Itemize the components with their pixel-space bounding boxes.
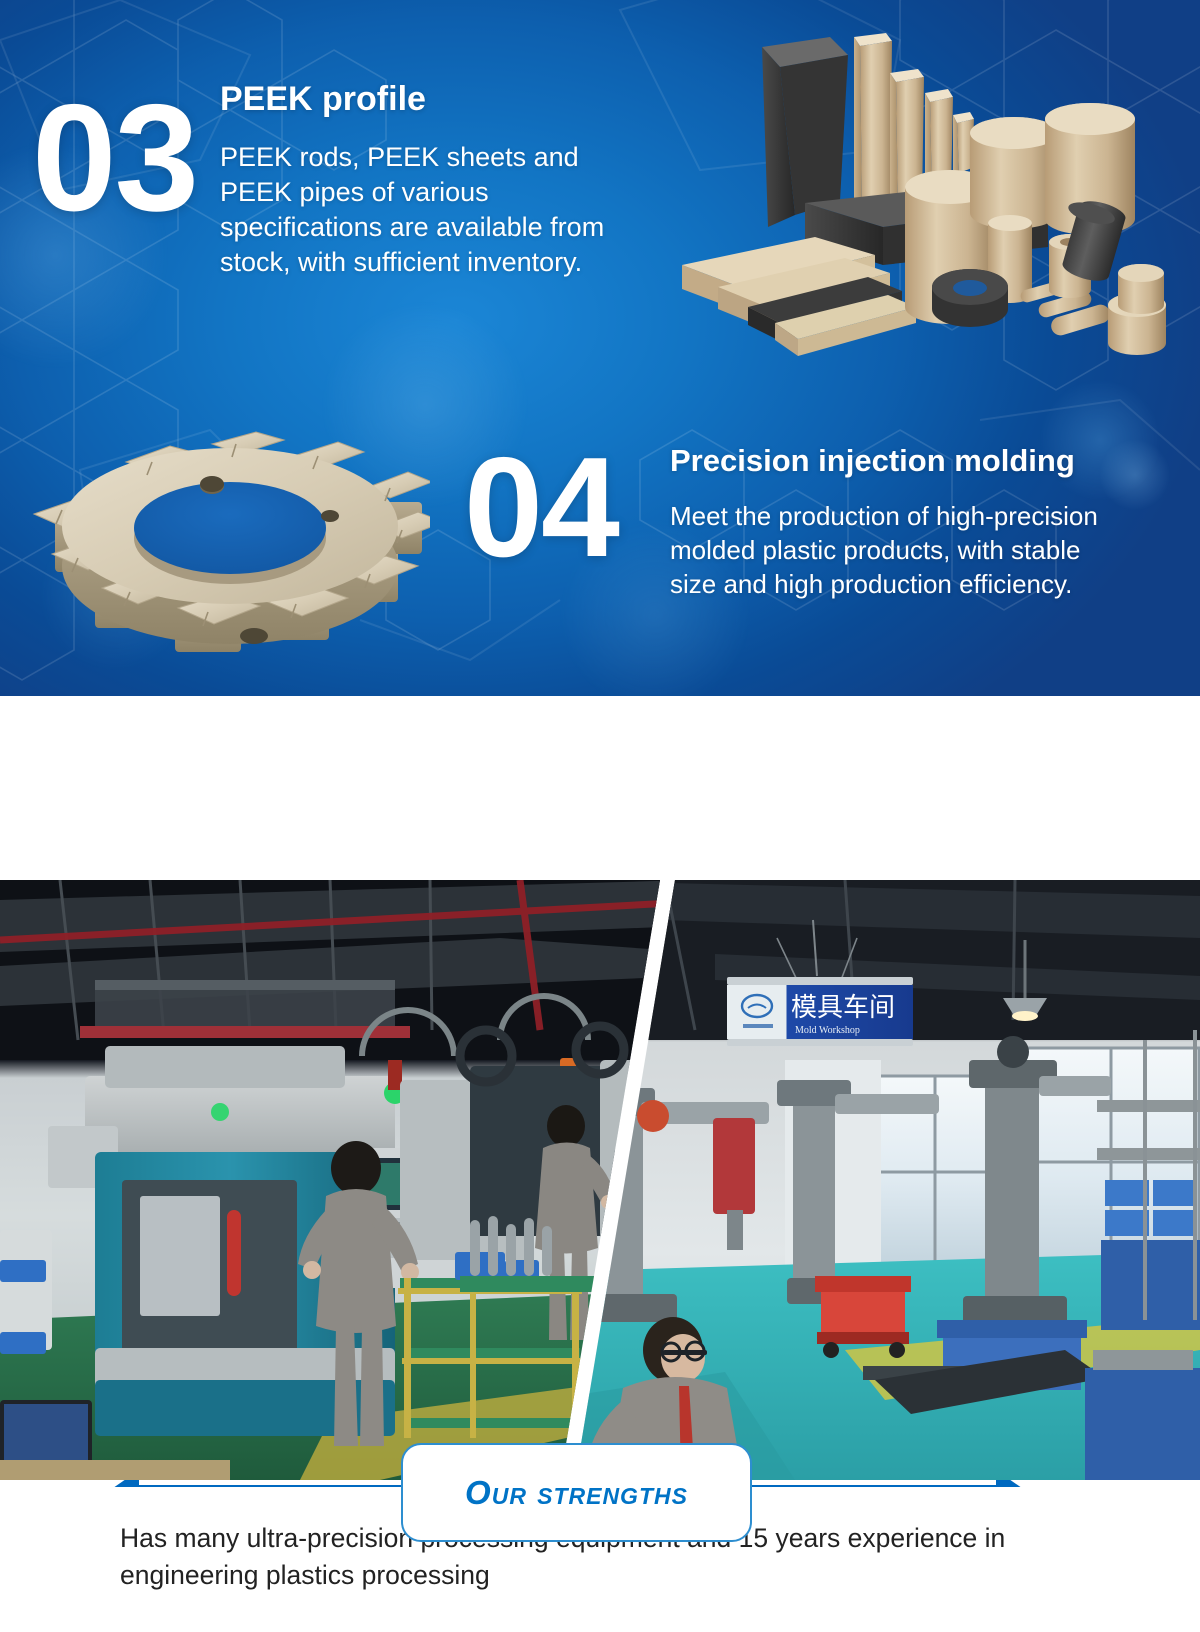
block-body-03: PEEK rods, PEEK sheets and PEEK pipes of…: [220, 140, 652, 280]
peek-gear-ring-image: [30, 392, 430, 674]
svg-text:模具车间: 模具车间: [791, 993, 895, 1023]
strengths-banner: Our strengths: [0, 696, 1200, 880]
black-peek-block: [762, 37, 848, 227]
peek-profile-products-image: [640, 15, 1192, 360]
svg-text:Mold Workshop: Mold Workshop: [795, 1025, 860, 1036]
strengths-label-box: Our strengths: [401, 1443, 752, 1542]
block-body-04: Meet the production of high-precision mo…: [670, 500, 1100, 601]
factory-photo-collage: 模具车间 Mold Workshop: [0, 880, 1200, 1480]
photo-cnc-machining-workshop: [0, 880, 690, 1480]
block-number-04: 04: [464, 437, 618, 579]
strengths-label: Our strengths: [465, 1474, 688, 1512]
hero-panel: 03 PEEK profile PEEK rods, PEEK sheets a…: [0, 0, 1200, 696]
block-title-04: Precision injection molding: [670, 443, 1190, 479]
block-title-03: PEEK profile: [220, 80, 690, 119]
block-number-03: 03: [32, 82, 197, 234]
